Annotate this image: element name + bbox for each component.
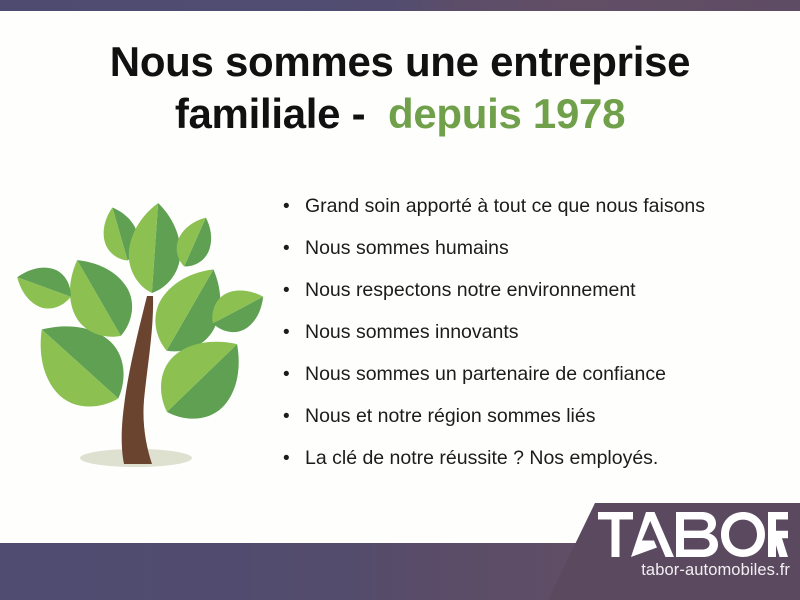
page-title: Nous sommes une entreprise familiale - d… [0,36,800,140]
bullet-dot-icon: • [283,277,305,305]
list-item: • La clé de notre réussite ? Nos employé… [283,444,783,486]
brand-logo: tabor-automobiles.fr [548,503,800,600]
bullet-dot-icon: • [283,361,305,389]
list-item: • Grand soin apporté à tout ce que nous … [283,192,783,234]
bullet-dot-icon: • [283,403,305,431]
list-item-label: Nous sommes un partenaire de confiance [305,360,666,388]
bullet-dot-icon: • [283,193,305,221]
title-dash [340,90,351,137]
title-spacer [365,90,388,137]
list-item-label: Nous respectons notre environnement [305,276,636,304]
list-item-label: Nous et notre région sommes liés [305,402,595,430]
slide-root: Nous sommes une entreprise familiale - d… [0,0,800,600]
bullet-dot-icon: • [283,319,305,347]
title-line-1: Nous sommes une entreprise [0,36,800,88]
bullet-dot-icon: • [283,235,305,263]
list-item-label: La clé de notre réussite ? Nos employés. [305,444,658,472]
top-accent-band [0,0,800,11]
title-line-2-accent: depuis 1978 [388,90,625,137]
tree-illustration [14,192,270,488]
tree-leaf-far-left [14,258,78,315]
list-item: • Nous sommes innovants [283,318,783,360]
list-item: • Nous et notre région sommes liés [283,402,783,444]
tabor-wordmark-icon [598,512,788,557]
value-bullet-list: • Grand soin apporté à tout ce que nous … [283,192,783,486]
list-item: • Nous sommes humains [283,234,783,276]
bullet-dot-icon: • [283,445,305,473]
title-line-2: familiale - depuis 1978 [0,88,800,140]
list-item-label: Grand soin apporté à tout ce que nous fa… [305,192,705,220]
title-line-2-prefix: familiale [175,90,340,137]
list-item: • Nous sommes un partenaire de confiance [283,360,783,402]
logo-tagline: tabor-automobiles.fr [598,560,790,580]
list-item-label: Nous sommes humains [305,234,509,262]
title-line-2-dash: - [352,90,366,137]
tree-leaf-top-center [126,201,184,295]
list-item-label: Nous sommes innovants [305,318,519,346]
list-item: • Nous respectons notre environnement [283,276,783,318]
